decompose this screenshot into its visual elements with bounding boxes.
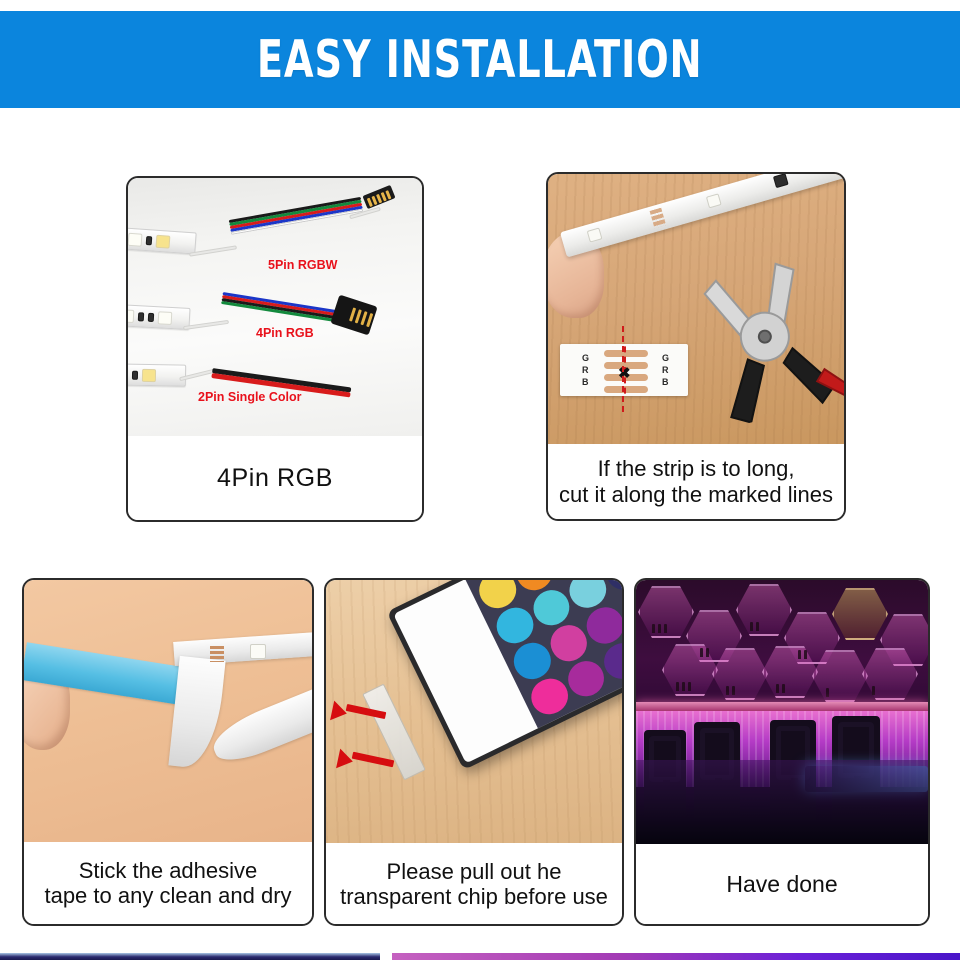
strip-lead xyxy=(184,321,228,329)
strip-lead xyxy=(190,246,236,255)
bar-counter-top xyxy=(636,702,928,711)
pad-label-b-right: B xyxy=(662,378,669,387)
led-resistor xyxy=(148,312,154,321)
wire-bundle-5pin xyxy=(229,197,364,235)
color-button-grid[interactable] xyxy=(465,580,622,728)
strip-copper-pads xyxy=(210,646,224,662)
led-chip xyxy=(250,644,266,659)
color-button[interactable] xyxy=(525,672,573,720)
led-resistor xyxy=(132,370,138,379)
next-section-sliver xyxy=(0,953,960,960)
led-chip xyxy=(128,309,134,323)
panel-caption: Have done xyxy=(636,844,928,924)
connector-plug-5pin xyxy=(362,185,395,209)
cut-marking-diagram: G R B G R B ✖ xyxy=(560,344,688,396)
sliver-left xyxy=(0,953,380,960)
sliver-right xyxy=(392,953,960,960)
finished-bar-photo xyxy=(636,580,928,844)
panel-caption: Please pull out he transparent chip befo… xyxy=(326,843,622,924)
led-chip xyxy=(158,311,173,325)
panel-cut-strip: G R B G R B ✖ xyxy=(546,172,846,521)
led-chip xyxy=(142,368,156,381)
page-header-banner: EASY INSTALLATION xyxy=(0,11,960,108)
led-strip-held xyxy=(560,174,844,257)
remote-faceplate: SLOW FLASH xyxy=(393,580,622,763)
panel-connector-types: 5Pin RGBW 4Pin RGB xyxy=(126,176,424,522)
adhesive-tape-photo xyxy=(24,580,312,842)
installation-infographic: EASY INSTALLATION 5Pin RGBW xyxy=(0,0,960,960)
led-chip xyxy=(156,234,171,248)
caption-cut-strip: If the strip is to long, cut it along th… xyxy=(559,456,833,506)
caption-adhesive-tape: Stick the adhesive tape to any clean and… xyxy=(44,858,291,908)
panel-finished-bar: Have done xyxy=(634,578,930,926)
panel-caption: If the strip is to long, cut it along th… xyxy=(548,444,844,519)
connector-types-photo: 5Pin RGBW 4Pin RGB xyxy=(128,178,422,436)
led-chip xyxy=(587,227,603,242)
pad-label-g-left: G xyxy=(582,354,589,363)
caption-finished-bar: Have done xyxy=(726,871,837,897)
wire-bundle-4pin xyxy=(221,292,349,324)
rgb-remote-control: SLOW FLASH xyxy=(387,580,622,770)
pad-label-g-right: G xyxy=(662,354,669,363)
led-strip-2pin xyxy=(128,363,186,386)
led-resistor xyxy=(138,312,144,321)
led-resistor xyxy=(773,174,789,188)
caption-remote-chip: Please pull out he transparent chip befo… xyxy=(340,859,608,909)
label-4pin-rgb: 4Pin RGB xyxy=(256,326,314,340)
pad-label-r-right: R xyxy=(662,366,669,375)
panel-adhesive-tape: Stick the adhesive tape to any clean and… xyxy=(22,578,314,926)
pad-label-r-left: R xyxy=(582,366,589,375)
hex-shelf xyxy=(736,584,792,636)
pad-label-b-left: B xyxy=(582,378,589,387)
cut-pads xyxy=(650,208,666,229)
label-5pin-rgbw: 5Pin RGBW xyxy=(268,258,337,272)
label-2pin-single-color: 2Pin Single Color xyxy=(198,390,302,404)
copper-pad xyxy=(604,350,648,357)
led-strip-5pin xyxy=(128,228,197,255)
wire-cutter-icon xyxy=(682,251,844,430)
copper-pad xyxy=(604,386,648,393)
cut-strip-photo: G R B G R B ✖ xyxy=(548,174,844,444)
led-chip xyxy=(706,193,722,208)
led-chip xyxy=(128,232,142,246)
color-button[interactable] xyxy=(562,655,610,703)
led-strip-4pin xyxy=(128,304,191,330)
page-title: EASY INSTALLATION xyxy=(257,30,703,90)
panel-remote-chip: SLOW FLASH Please pull out he transparen… xyxy=(324,578,624,926)
cut-guide-line xyxy=(622,326,624,412)
panel-caption: Stick the adhesive tape to any clean and… xyxy=(24,842,312,924)
remote-chip-photo: SLOW FLASH xyxy=(326,580,622,843)
led-resistor xyxy=(146,236,153,245)
sliver-gap xyxy=(380,953,392,960)
panel-caption: 4Pin RGB xyxy=(128,436,422,520)
floor-reflection xyxy=(636,760,928,844)
hex-shelf xyxy=(832,588,888,640)
hex-shelf-row xyxy=(636,582,928,700)
scissors-mark-icon: ✖ xyxy=(618,366,631,381)
connector-plug-4pin xyxy=(330,295,377,336)
caption-connector-types: 4Pin RGB xyxy=(217,464,333,493)
adhesive-backing-curl xyxy=(207,687,312,769)
transparent-battery-chip[interactable] xyxy=(362,684,426,781)
